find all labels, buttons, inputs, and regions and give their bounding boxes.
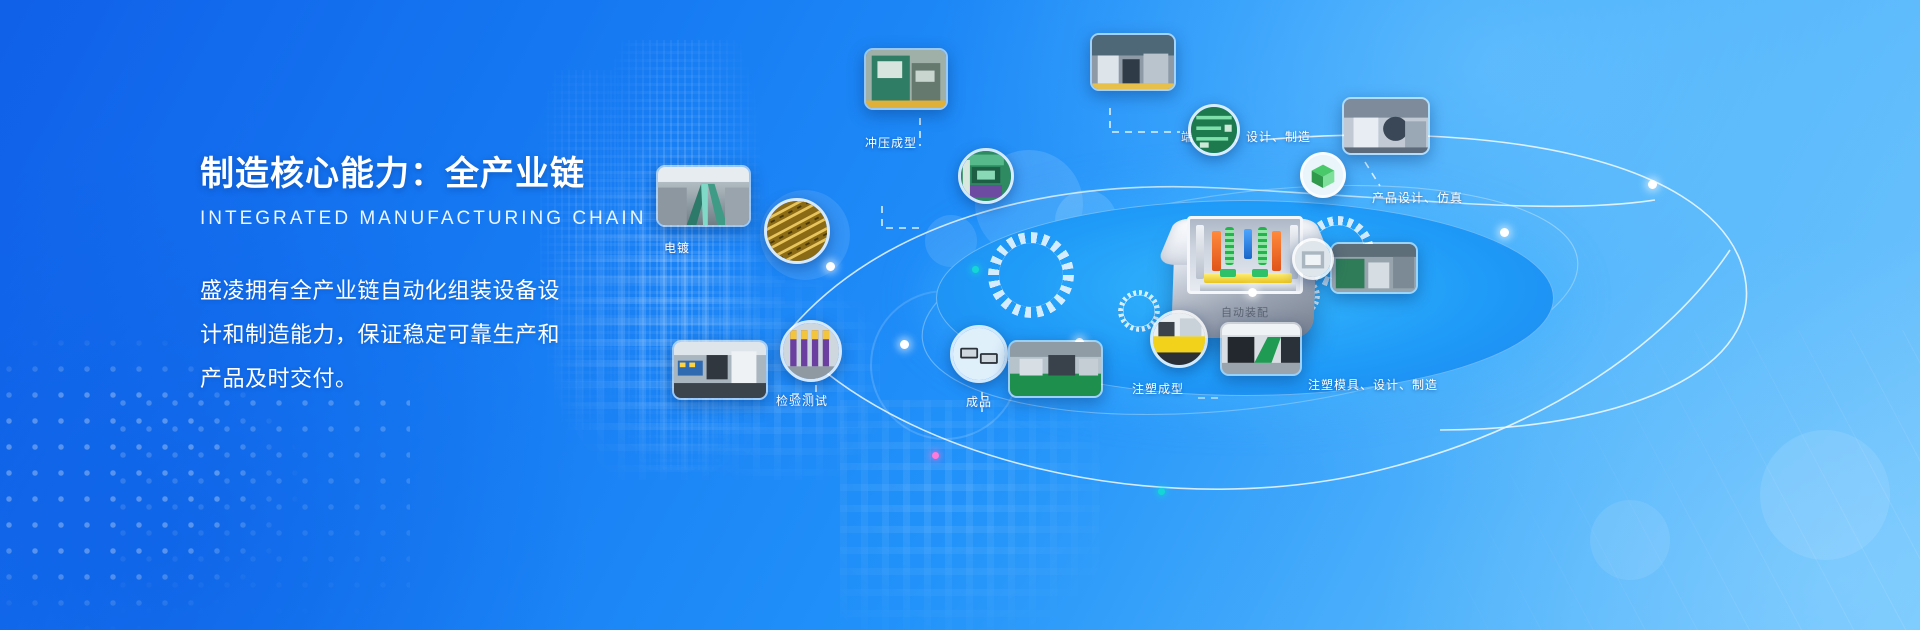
cube-model-photo [1300, 152, 1346, 198]
plating-photo-image [658, 167, 749, 225]
press-machine-photo [958, 148, 1014, 204]
node-plating[interactable]: 电镀 [656, 165, 751, 227]
injection-forming-image [1153, 313, 1205, 365]
mould-spring [1225, 227, 1234, 265]
node-finished-goods[interactable]: 成品 [950, 325, 1008, 383]
node-inspection-circle[interactable]: 检验测试 [780, 320, 842, 382]
inspection-circle-photo [780, 320, 842, 382]
injection-mold-label: 注塑模具、设计、制造 [1308, 376, 1438, 393]
dot-field-lower [110, 390, 410, 630]
pcb-photo [1188, 104, 1240, 156]
inspection-photo-image [674, 342, 766, 398]
injection-mold-image [1332, 244, 1416, 292]
connector-dot-teal [972, 266, 979, 273]
injection-forming-photo [1150, 310, 1208, 368]
process-diagram: 自动装配 电镀 [620, 0, 1920, 630]
node-press-machine[interactable] [958, 148, 1014, 204]
stamping-photo [864, 48, 948, 110]
node-pcb[interactable] [1188, 104, 1240, 156]
body-line-1: 盛凌拥有全产业链自动化组装设备设 [200, 269, 560, 313]
mould-chip-green [1220, 269, 1236, 277]
pcb-image [1191, 107, 1237, 153]
connector-dot-pink [932, 452, 939, 459]
gold-grid-photo [764, 198, 830, 264]
plating-label: 电镀 [664, 239, 690, 256]
node-inspection-photo[interactable] [672, 340, 768, 400]
gold-grid-image [767, 201, 827, 261]
leader-terminal [1110, 108, 1180, 132]
inspection-label: 检验测试 [776, 392, 828, 409]
product-design-photo [1342, 97, 1430, 155]
injection-mold-photo [1330, 242, 1418, 294]
stamping-photo-image [866, 50, 946, 108]
finished-goods-label: 成品 [966, 393, 992, 410]
body-paragraph: 盛凌拥有全产业链自动化组装设备设 计和制造能力，保证稳定可靠生产和 产品及时交付… [200, 269, 560, 401]
finished-goods-image [953, 328, 1005, 380]
manufacturing-chain-banner: 制造核心能力：全产业链 INTEGRATED MANUFACTURING CHA… [0, 0, 1920, 630]
leader-design [1365, 162, 1380, 186]
mould-plate-yellow [1204, 273, 1292, 283]
connector-dot [1648, 180, 1657, 189]
node-product-design[interactable]: 产品设计、仿真 [1342, 97, 1430, 155]
node-injection-mold[interactable]: 注塑模具、设计、制造 [1330, 242, 1418, 294]
product-design-label: 产品设计、仿真 [1372, 189, 1463, 206]
mould-chip-green [1252, 269, 1268, 277]
mould-cavity [1187, 216, 1303, 294]
mould-part-image [1295, 241, 1331, 277]
product-design-image [1344, 99, 1428, 153]
stamping-label: 冲压成型 [865, 134, 917, 151]
node-injection-machine[interactable] [1220, 322, 1302, 376]
injection-machine-image [1222, 324, 1300, 374]
leader-plating [882, 206, 920, 228]
mould-pin-orange [1212, 231, 1221, 271]
node-assembly-line[interactable] [1008, 340, 1103, 398]
injection-forming-label: 注塑成型 [1132, 380, 1184, 397]
press-machine-image [961, 151, 1011, 201]
connector-dot [1248, 288, 1257, 297]
node-terminal-mold[interactable]: 端子模具、设计、制造 [1090, 33, 1176, 91]
mould-spring [1258, 227, 1267, 265]
assembly-line-photo [1008, 340, 1103, 398]
body-line-3: 产品及时交付。 [200, 357, 560, 401]
connector-dot [900, 340, 909, 349]
page-title: 制造核心能力：全产业链 [200, 146, 620, 195]
mould-pin-orange [1272, 231, 1281, 271]
mould-pin [1196, 225, 1204, 279]
plating-photo [656, 165, 751, 227]
mould-part-photo [1292, 238, 1334, 280]
body-line-2: 计和制造能力，保证稳定可靠生产和 [200, 313, 560, 357]
node-cube-model[interactable] [1300, 152, 1346, 198]
node-stamping[interactable]: 冲压成型 [864, 48, 948, 110]
node-gold-grid[interactable] [764, 198, 830, 264]
injection-machine-photo [1220, 322, 1302, 376]
headline-block: 制造核心能力：全产业链 INTEGRATED MANUFACTURING CHA… [200, 146, 620, 401]
terminal-mold-photo [1090, 33, 1176, 91]
terminal-mold-image [1092, 35, 1174, 89]
page-subtitle: INTEGRATED MANUFACTURING CHAIN [200, 208, 620, 230]
inspection-circle-image [783, 323, 839, 379]
gear-large [988, 232, 1074, 318]
node-mould-part[interactable] [1292, 238, 1334, 280]
node-injection-forming[interactable]: 注塑成型 [1150, 310, 1208, 368]
cube-model-image [1303, 155, 1343, 195]
connector-dot-teal [1158, 488, 1165, 495]
assembly-line-image [1010, 342, 1101, 396]
connector-dot [1500, 228, 1509, 237]
mould-pin-blue [1244, 229, 1252, 259]
finished-goods-photo [950, 325, 1008, 383]
inspection-photo [672, 340, 768, 400]
